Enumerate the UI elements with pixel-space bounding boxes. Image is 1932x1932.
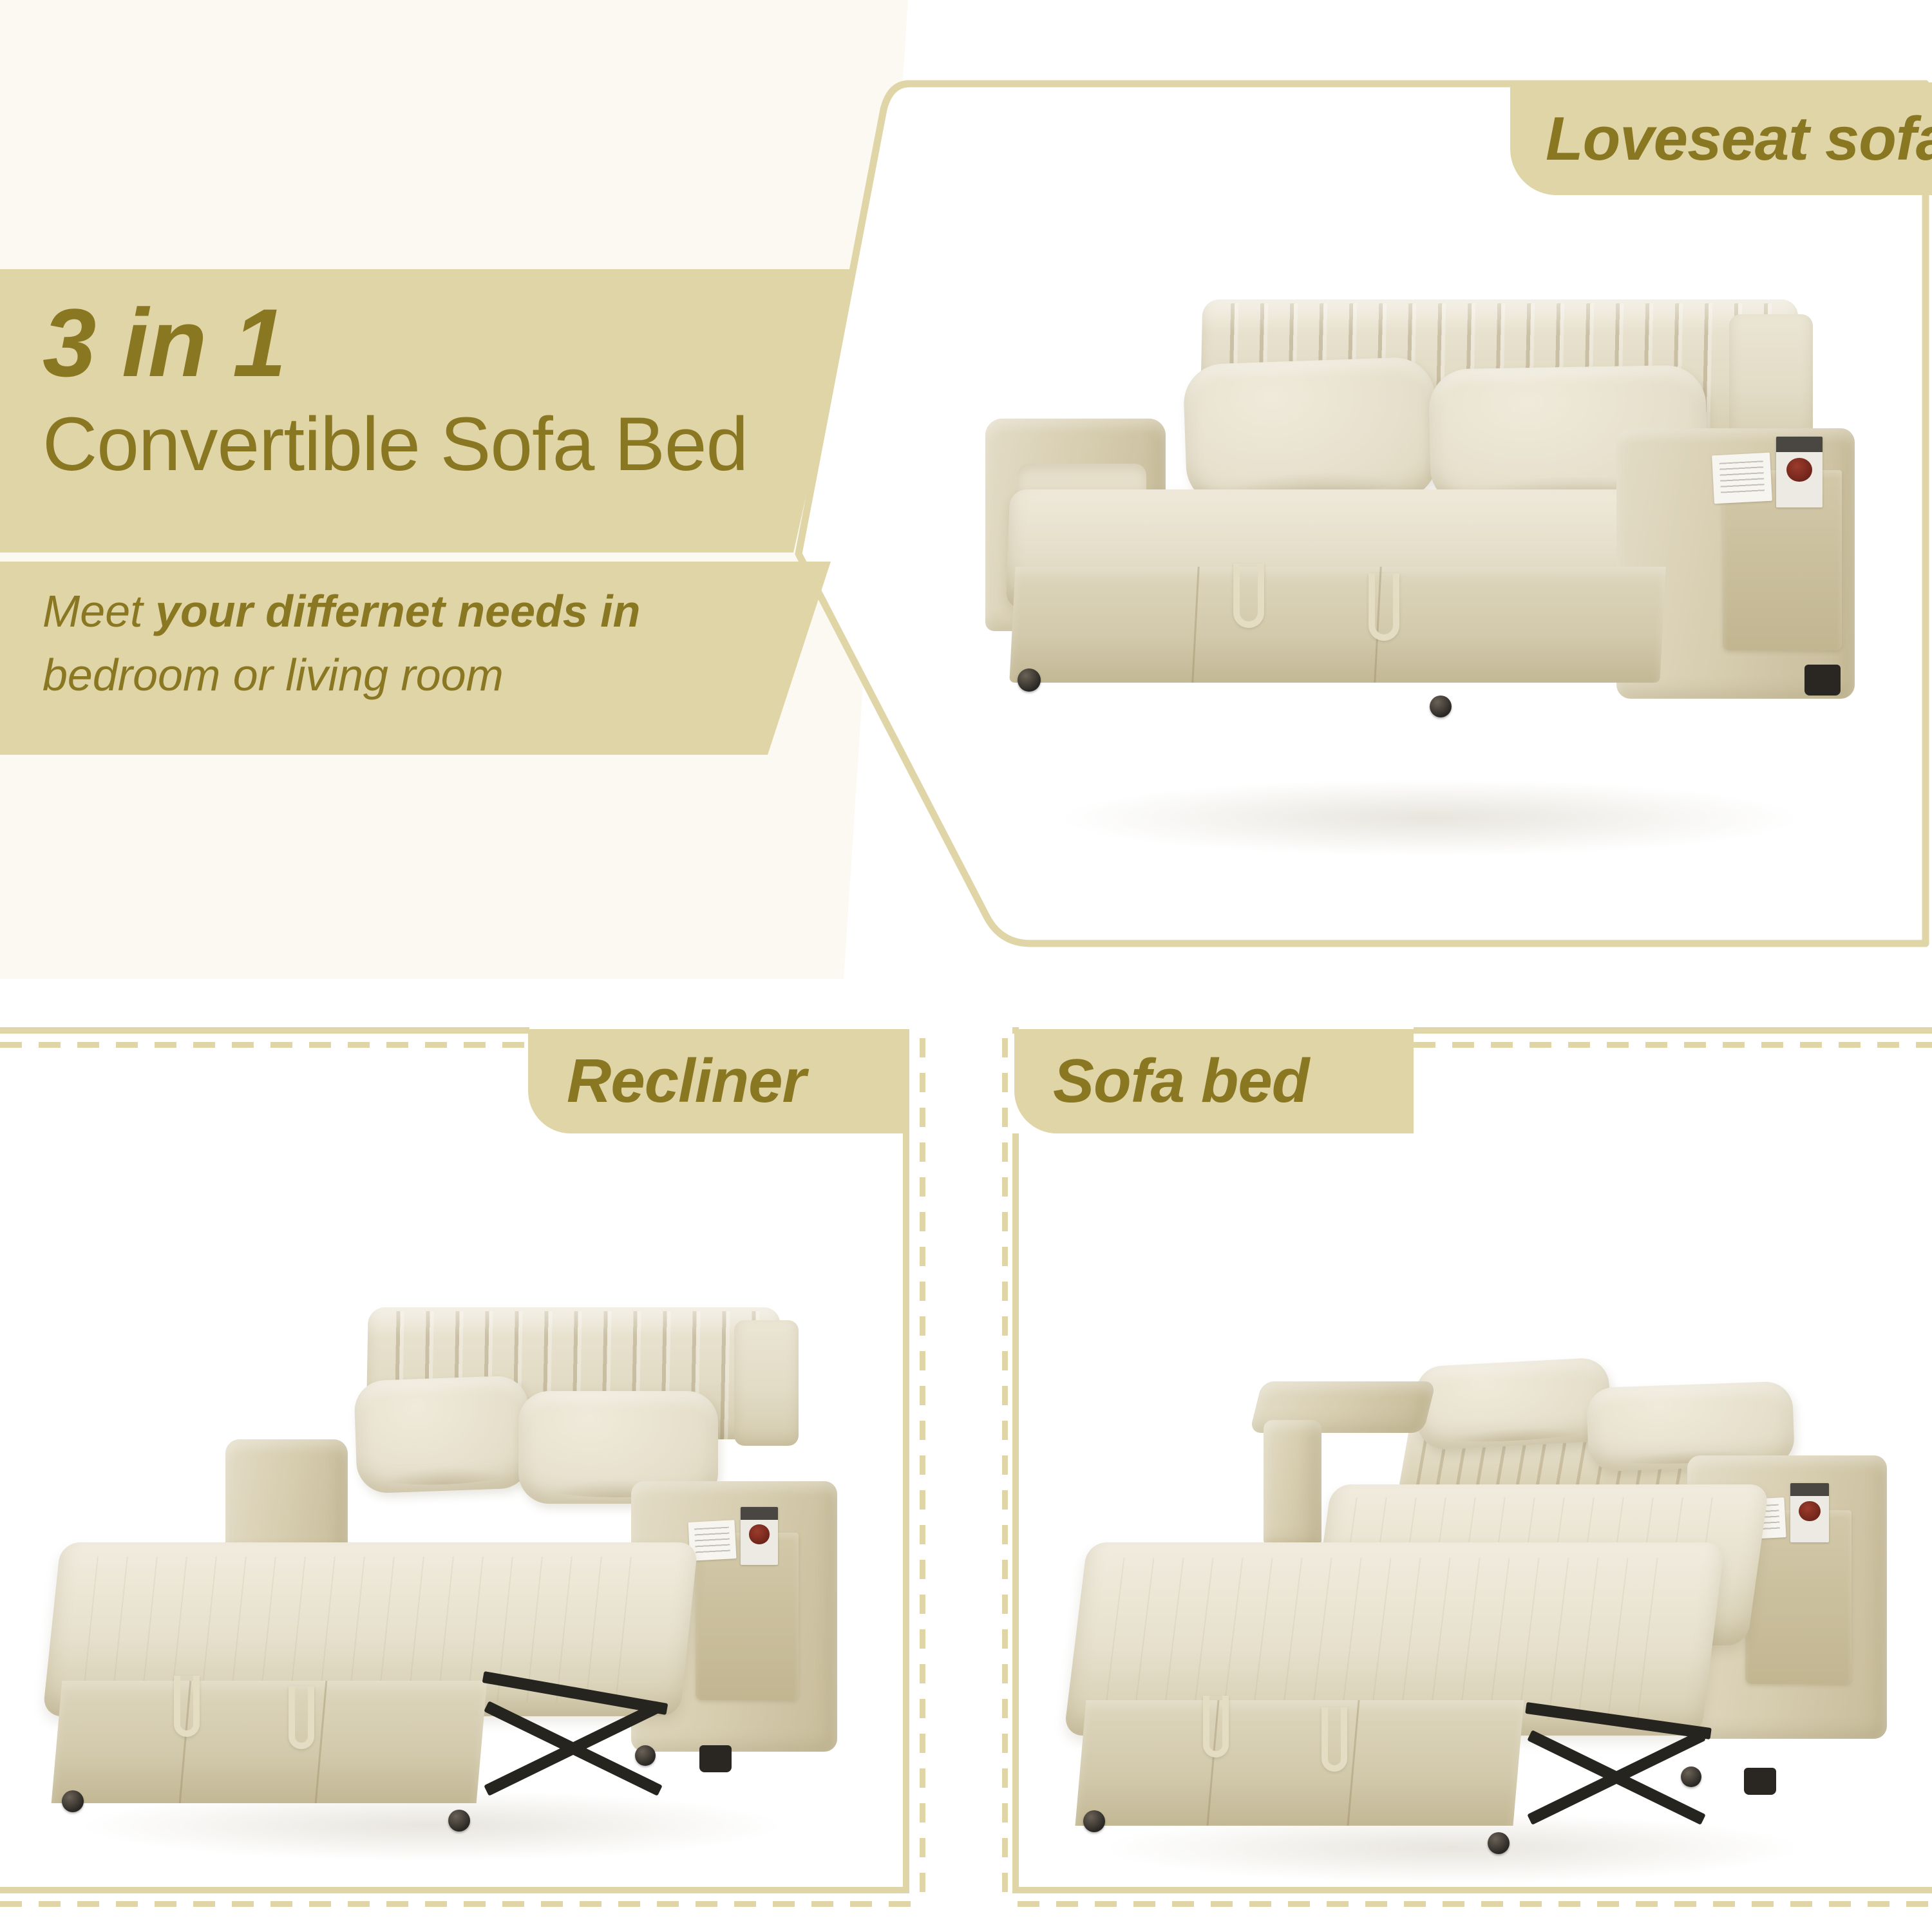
skirt-fold-1 bbox=[1191, 567, 1199, 683]
subtitle-part-1: Meet bbox=[43, 586, 155, 636]
lumbar-pillow-left-recliner bbox=[354, 1375, 531, 1493]
pocket-instruction-brochure-sofabed bbox=[1790, 1483, 1829, 1542]
product-image-recliner bbox=[26, 1294, 882, 1861]
ground-shadow bbox=[1056, 779, 1803, 857]
sofabed-frame-left bbox=[1012, 1133, 1019, 1893]
sofabed-bottom-dashed bbox=[1018, 1901, 1932, 1907]
recliner-divider-dashed bbox=[920, 1038, 925, 1901]
page-title: 3 in 1 Convertible Sofa Bed bbox=[43, 289, 802, 489]
caster-wheel-front bbox=[1430, 696, 1452, 717]
caster-wheel-mid-sofabed bbox=[1681, 1766, 1701, 1787]
pocket-instruction-brochure bbox=[1776, 437, 1823, 507]
care-card-text-lines bbox=[1719, 460, 1765, 496]
title-line-1: 3 in 1 bbox=[43, 289, 802, 397]
brochure-header-band-recliner bbox=[741, 1507, 778, 1520]
backrest-highlight-recliner bbox=[368, 1307, 781, 1336]
panel-label-recliner: Recliner bbox=[528, 1029, 909, 1133]
brochure-seal-badge bbox=[1786, 458, 1812, 482]
skirt-fold-2-sofabed bbox=[1347, 1700, 1359, 1826]
panel-label-sofabed: Sofa bed bbox=[1014, 1029, 1414, 1133]
caster-wheel-left-recliner bbox=[62, 1790, 84, 1812]
recliner-top-dashed bbox=[0, 1042, 528, 1048]
mattress-creases-sofabed bbox=[1104, 1558, 1685, 1720]
backrest-highlight bbox=[1202, 299, 1798, 332]
caster-wheel-front-recliner bbox=[448, 1810, 470, 1832]
pocket-care-card bbox=[1712, 453, 1772, 504]
product-image-sofabed bbox=[1043, 1323, 1906, 1877]
pillow-left-sofabed bbox=[1415, 1357, 1612, 1451]
caster-wheel-front-sofabed bbox=[1488, 1832, 1510, 1854]
infographic-canvas: 3 in 1 Convertible Sofa Bed Meet your di… bbox=[0, 0, 1932, 1932]
sofabed-divider-dashed bbox=[1002, 1038, 1008, 1901]
product-image-loveseat bbox=[979, 270, 1880, 850]
pull-strap-right-recliner bbox=[289, 1686, 314, 1749]
subtitle-part-2: your differnet needs in bbox=[155, 586, 640, 636]
brochure-header-band-sofabed bbox=[1790, 1483, 1829, 1496]
sofabed-top-dashed bbox=[1414, 1042, 1932, 1048]
title-line-2: Convertible Sofa Bed bbox=[43, 401, 802, 489]
front-skirt-panel-sofabed bbox=[1075, 1700, 1524, 1826]
skirt-fold-2-recliner bbox=[315, 1681, 328, 1803]
front-skirt-panel bbox=[1009, 567, 1665, 683]
panel-label-loveseat: Loveseat sofa bbox=[1510, 82, 1932, 195]
armrest-left-post-sofabed bbox=[1264, 1420, 1321, 1549]
sofabed-frame-corner bbox=[1012, 1027, 1019, 1034]
panel-label-loveseat-text: Loveseat sofa bbox=[1546, 104, 1932, 175]
brochure-header-band bbox=[1776, 437, 1823, 452]
brochure-seal-badge-sofabed bbox=[1799, 1501, 1821, 1521]
sofabed-frame-top-right bbox=[1414, 1027, 1932, 1034]
recliner-bottom-dashed bbox=[0, 1901, 914, 1907]
subtitle-part-3: bedroom or living room bbox=[43, 650, 504, 700]
caster-wheel-left bbox=[1018, 668, 1041, 692]
subtitle: Meet your differnet needs in bedroom or … bbox=[43, 580, 757, 708]
sofa-foot-right bbox=[1804, 665, 1841, 696]
pull-strap-left-recliner bbox=[174, 1676, 200, 1737]
recliner-frame-top-left bbox=[0, 1027, 529, 1034]
sofa-foot-right-sofabed bbox=[1744, 1768, 1776, 1795]
care-card-text-lines-recliner bbox=[694, 1526, 731, 1555]
pull-strap-left bbox=[1233, 563, 1264, 628]
sofa-foot-right-recliner bbox=[699, 1745, 732, 1772]
recliner-frame-bottom bbox=[0, 1887, 909, 1893]
caster-wheel-left-sofabed bbox=[1083, 1810, 1105, 1832]
panel-label-sofabed-text: Sofa bed bbox=[1053, 1046, 1309, 1117]
x-support-frame-recliner bbox=[477, 1681, 670, 1810]
caster-wheel-mid-recliner bbox=[635, 1745, 656, 1766]
sofabed-frame-bottom bbox=[1012, 1887, 1932, 1893]
pull-strap-right-sofabed bbox=[1321, 1707, 1347, 1772]
pocket-instruction-brochure-recliner bbox=[741, 1507, 778, 1565]
lumbar-pillow-left bbox=[1182, 356, 1438, 506]
pull-strap-right bbox=[1368, 573, 1399, 641]
brochure-seal-badge-recliner bbox=[749, 1524, 770, 1544]
backrest-right-wing-recliner bbox=[734, 1320, 799, 1446]
pull-strap-left-sofabed bbox=[1203, 1696, 1229, 1757]
panel-label-recliner-text: Recliner bbox=[567, 1046, 806, 1117]
front-skirt-panel-recliner bbox=[52, 1681, 488, 1803]
recliner-frame-right bbox=[903, 1133, 909, 1893]
